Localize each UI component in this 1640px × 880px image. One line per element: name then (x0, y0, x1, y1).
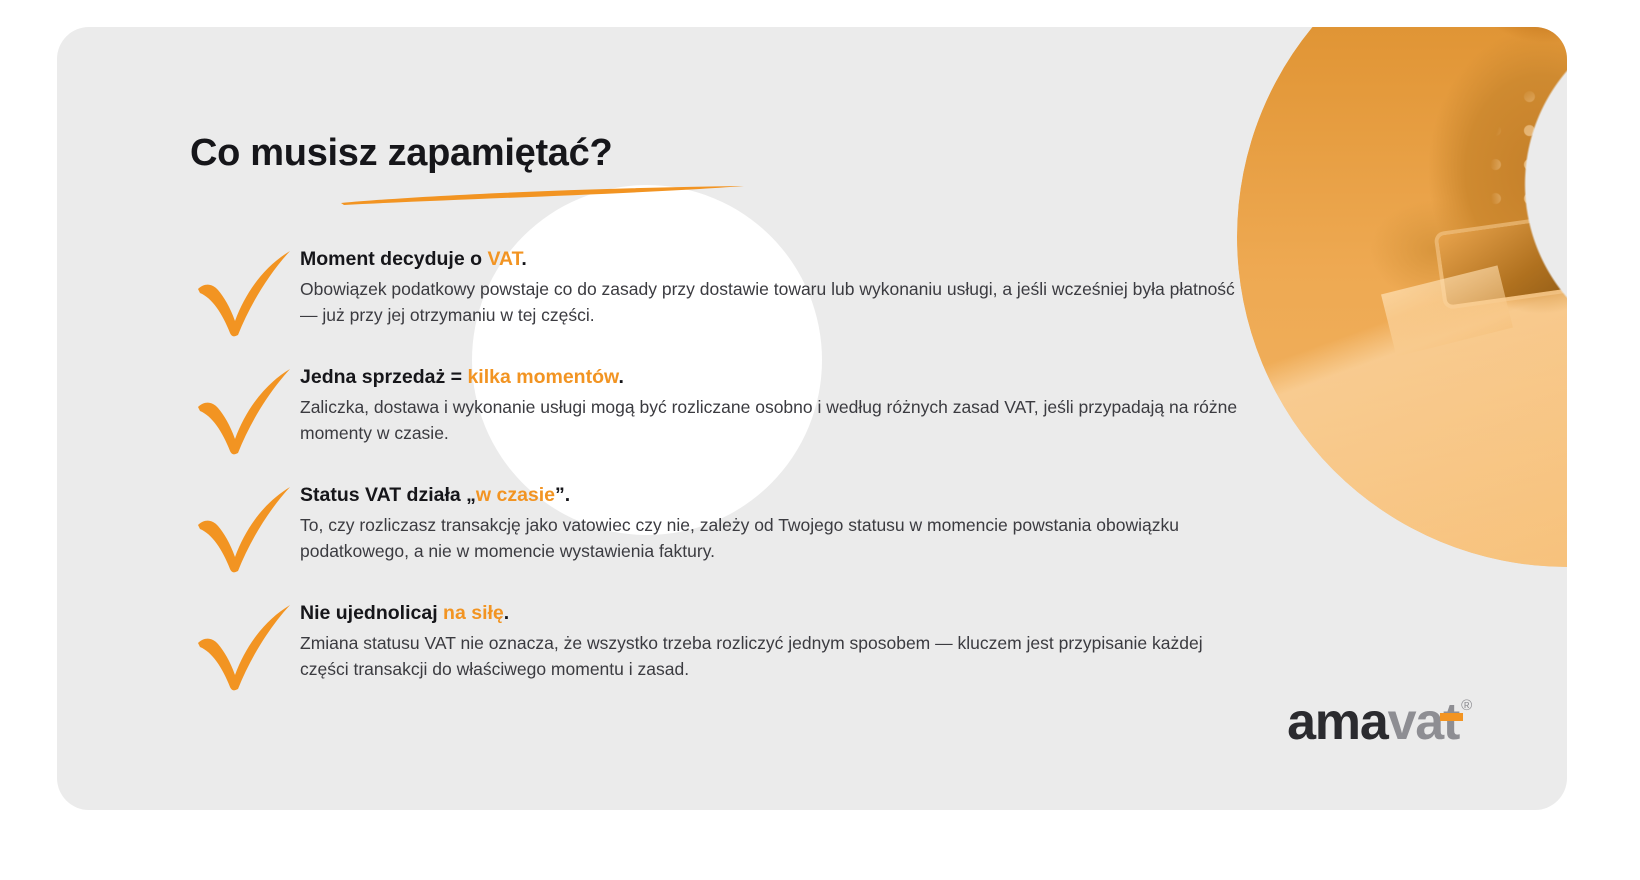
photo-polkadot-blouse-layer (1237, 27, 1567, 567)
registered-trademark-mark: ® (1461, 698, 1471, 713)
list-item: Moment decyduje o VAT. Obowiązek podatko… (190, 243, 1260, 361)
list-item-title: Jedna sprzedaż = kilka momentów. (300, 365, 1260, 389)
list-item-body: Obowiązek podatkowy powstaje co do zasad… (300, 277, 1245, 328)
key-points-list: Moment decyduje o VAT. Obowiązek podatko… (190, 243, 1260, 715)
list-item-body: To, czy rozliczasz transakcję jako vatow… (300, 513, 1245, 564)
list-item-title: Moment decyduje o VAT. (300, 247, 1260, 271)
content-card: Co musisz zapamiętać? Moment decyduje o … (57, 27, 1567, 810)
heading-block: Co musisz zapamiętać? (190, 132, 950, 206)
logo-text-va: va (1388, 696, 1443, 748)
slide-canvas: Co musisz zapamiętać? Moment decyduje o … (0, 0, 1640, 880)
list-item-body: Zaliczka, dostawa i wykonanie usługi mog… (300, 395, 1245, 446)
title-suffix: . (504, 602, 509, 624)
logo-t-glyph: t (1443, 693, 1459, 751)
list-item-title: Status VAT działa „w czasie”. (300, 483, 1260, 507)
title-highlight: kilka momentów (467, 366, 618, 388)
list-item-text: Jedna sprzedaż = kilka momentów. Zaliczk… (300, 361, 1260, 446)
title-prefix: Status VAT działa „ (300, 484, 476, 506)
list-item-body: Zmiana statusu VAT nie oznacza, że wszys… (300, 631, 1245, 682)
logo-text-ama: ama (1287, 696, 1387, 748)
list-item: Nie ujednolicaj na siłę. Zmiana statusu … (190, 597, 1260, 715)
title-highlight: VAT (487, 248, 521, 270)
orange-swoosh-underline (338, 184, 748, 206)
title-highlight: na siłę (443, 602, 504, 624)
title-suffix: ”. (555, 484, 570, 506)
orange-checkmark-icon (190, 245, 300, 337)
title-suffix: . (521, 248, 526, 270)
woman-at-desk-duotone-photo (1237, 27, 1567, 567)
title-highlight: w czasie (476, 484, 555, 506)
list-item: Status VAT działa „w czasie”. To, czy ro… (190, 479, 1260, 597)
orange-checkmark-icon (190, 363, 300, 455)
orange-checkmark-icon (190, 599, 300, 691)
list-item: Jedna sprzedaż = kilka momentów. Zaliczk… (190, 361, 1260, 479)
paper-sheet-icon (1381, 265, 1513, 356)
donut-decoration (1207, 27, 1567, 587)
amavat-logo: ama va t ® (1287, 696, 1471, 748)
orange-checkmark-icon (190, 481, 300, 573)
photo-background-layer (1237, 27, 1567, 567)
title-prefix: Nie ujednolicaj (300, 602, 443, 624)
list-item-text: Moment decyduje o VAT. Obowiązek podatko… (300, 243, 1260, 328)
list-item-text: Status VAT działa „w czasie”. To, czy ro… (300, 479, 1260, 564)
title-prefix: Moment decyduje o (300, 248, 487, 270)
orange-donut-photo-ring (1237, 27, 1567, 567)
logo-text-t: t (1443, 696, 1459, 748)
title-prefix: Jedna sprzedaż = (300, 366, 467, 388)
tablet-icon (1438, 215, 1567, 306)
title-suffix: . (618, 366, 623, 388)
page-title: Co musisz zapamiętać? (190, 132, 950, 176)
logo-t-orange-crossbar (1440, 713, 1463, 721)
photo-desk-layer (1237, 27, 1567, 567)
list-item-text: Nie ujednolicaj na siłę. Zmiana statusu … (300, 597, 1260, 682)
list-item-title: Nie ujednolicaj na siłę. (300, 601, 1260, 625)
